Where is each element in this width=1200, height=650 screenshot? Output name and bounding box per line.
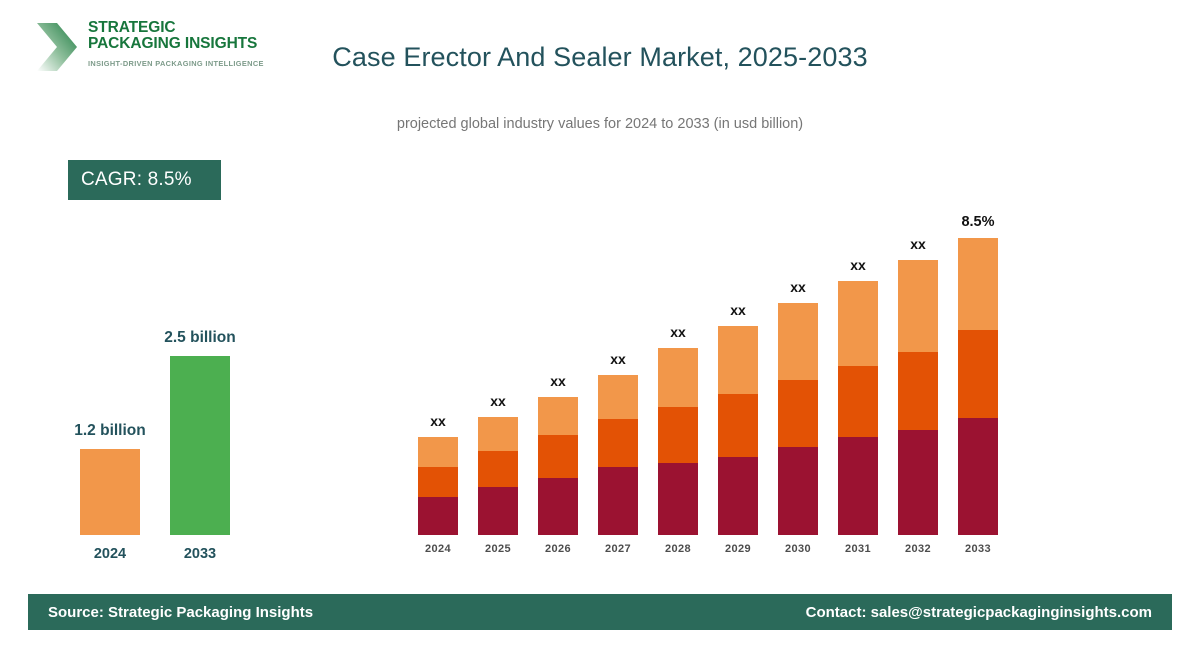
stacked-bar-top-label: xx xyxy=(888,236,948,252)
stacked-bar-segment-upper xyxy=(598,375,638,419)
stacked-bar xyxy=(478,417,518,535)
stacked-bar-top-label: xx xyxy=(648,324,708,340)
stacked-bar xyxy=(898,260,938,535)
stacked-bar-segment-middle xyxy=(958,330,998,418)
stacked-bar-segment-upper xyxy=(838,281,878,366)
stacked-bar-segment-upper xyxy=(538,397,578,435)
stacked-bar-top-label: xx xyxy=(588,351,648,367)
stacked-bar-top-label: xx xyxy=(528,373,588,389)
stacked-bar-top-label: xx xyxy=(408,413,468,429)
stacked-bar-segment-middle xyxy=(538,435,578,478)
stacked-bar xyxy=(778,303,818,535)
stacked-bar-top-label: xx xyxy=(468,393,528,409)
stacked-bar xyxy=(538,397,578,535)
stacked-bar-top-label: xx xyxy=(828,257,888,273)
cagr-badge: CAGR: 8.5% xyxy=(68,160,221,200)
stacked-bar-category-label: 2032 xyxy=(890,543,946,555)
stacked-bar-category-label: 2030 xyxy=(770,543,826,555)
stacked-bar-segment-middle xyxy=(658,407,698,463)
stacked-bar-category-label: 2024 xyxy=(410,543,466,555)
footer-source: Source: Strategic Packaging Insights xyxy=(48,604,313,621)
forecast-stacked-chart: xx2024xx2025xx2026xx2027xx2028xx2029xx20… xyxy=(400,195,1020,555)
stacked-bar xyxy=(718,326,758,535)
stacked-bar-category-label: 2025 xyxy=(470,543,526,555)
stacked-bar-segment-middle xyxy=(898,352,938,430)
stacked-bar-category-label: 2031 xyxy=(830,543,886,555)
stacked-bar-segment-middle xyxy=(778,380,818,447)
stacked-bar-segment-middle xyxy=(598,419,638,467)
stacked-bar xyxy=(958,238,998,535)
stacked-bar-segment-lower xyxy=(478,487,518,535)
stacked-bar-segment-upper xyxy=(778,303,818,380)
comparison-value-label: 1.2 billion xyxy=(30,422,190,440)
stacked-bar-category-label: 2033 xyxy=(950,543,1006,555)
stacked-bar xyxy=(598,375,638,535)
infographic-page: STRATEGIC PACKAGING INSIGHTS INSIGHT-DRI… xyxy=(0,0,1200,650)
stacked-bar-segment-lower xyxy=(958,418,998,535)
stacked-bar xyxy=(418,437,458,535)
stacked-bar-segment-lower xyxy=(658,463,698,535)
stacked-bar-top-label: 8.5% xyxy=(948,214,1008,230)
comparison-chart: 1.2 billion20242.5 billion2033 xyxy=(50,300,280,570)
stacked-bar-category-label: 2026 xyxy=(530,543,586,555)
stacked-bar-segment-lower xyxy=(898,430,938,535)
stacked-bar-segment-lower xyxy=(538,478,578,535)
stacked-bar-segment-upper xyxy=(478,417,518,451)
stacked-bar-top-label: xx xyxy=(708,302,768,318)
footer-bar: Source: Strategic Packaging Insights Con… xyxy=(28,594,1172,630)
footer-contact: Contact: sales@strategicpackaginginsight… xyxy=(806,604,1152,621)
stacked-bar-segment-upper xyxy=(418,437,458,467)
comparison-bar-rect xyxy=(80,449,140,535)
stacked-bar-category-label: 2027 xyxy=(590,543,646,555)
comparison-category-label: 2033 xyxy=(140,546,260,562)
stacked-bar-category-label: 2028 xyxy=(650,543,706,555)
stacked-bar-segment-upper xyxy=(958,238,998,330)
stacked-bar-segment-lower xyxy=(838,437,878,535)
stacked-bar-segment-lower xyxy=(778,447,818,535)
stacked-bar xyxy=(658,348,698,535)
comparison-bar-rect xyxy=(170,356,230,535)
stacked-bar-segment-lower xyxy=(598,467,638,535)
stacked-bar xyxy=(838,281,878,535)
comparison-bar xyxy=(170,356,230,535)
stacked-bar-segment-lower xyxy=(718,457,758,535)
page-subtitle: projected global industry values for 202… xyxy=(0,116,1200,132)
brand-line-1: STRATEGIC xyxy=(88,20,264,36)
stacked-bar-segment-middle xyxy=(838,366,878,437)
stacked-bar-category-label: 2029 xyxy=(710,543,766,555)
stacked-bar-segment-middle xyxy=(478,451,518,487)
stacked-bar-top-label: xx xyxy=(768,279,828,295)
stacked-bar-segment-upper xyxy=(718,326,758,394)
comparison-bar xyxy=(80,449,140,535)
stacked-bar-segment-middle xyxy=(718,394,758,457)
page-title: Case Erector And Sealer Market, 2025-203… xyxy=(0,42,1200,73)
stacked-bar-segment-upper xyxy=(898,260,938,352)
comparison-value-label: 2.5 billion xyxy=(120,329,280,347)
stacked-bar-segment-middle xyxy=(418,467,458,497)
stacked-bar-segment-lower xyxy=(418,497,458,535)
stacked-bar-segment-upper xyxy=(658,348,698,407)
